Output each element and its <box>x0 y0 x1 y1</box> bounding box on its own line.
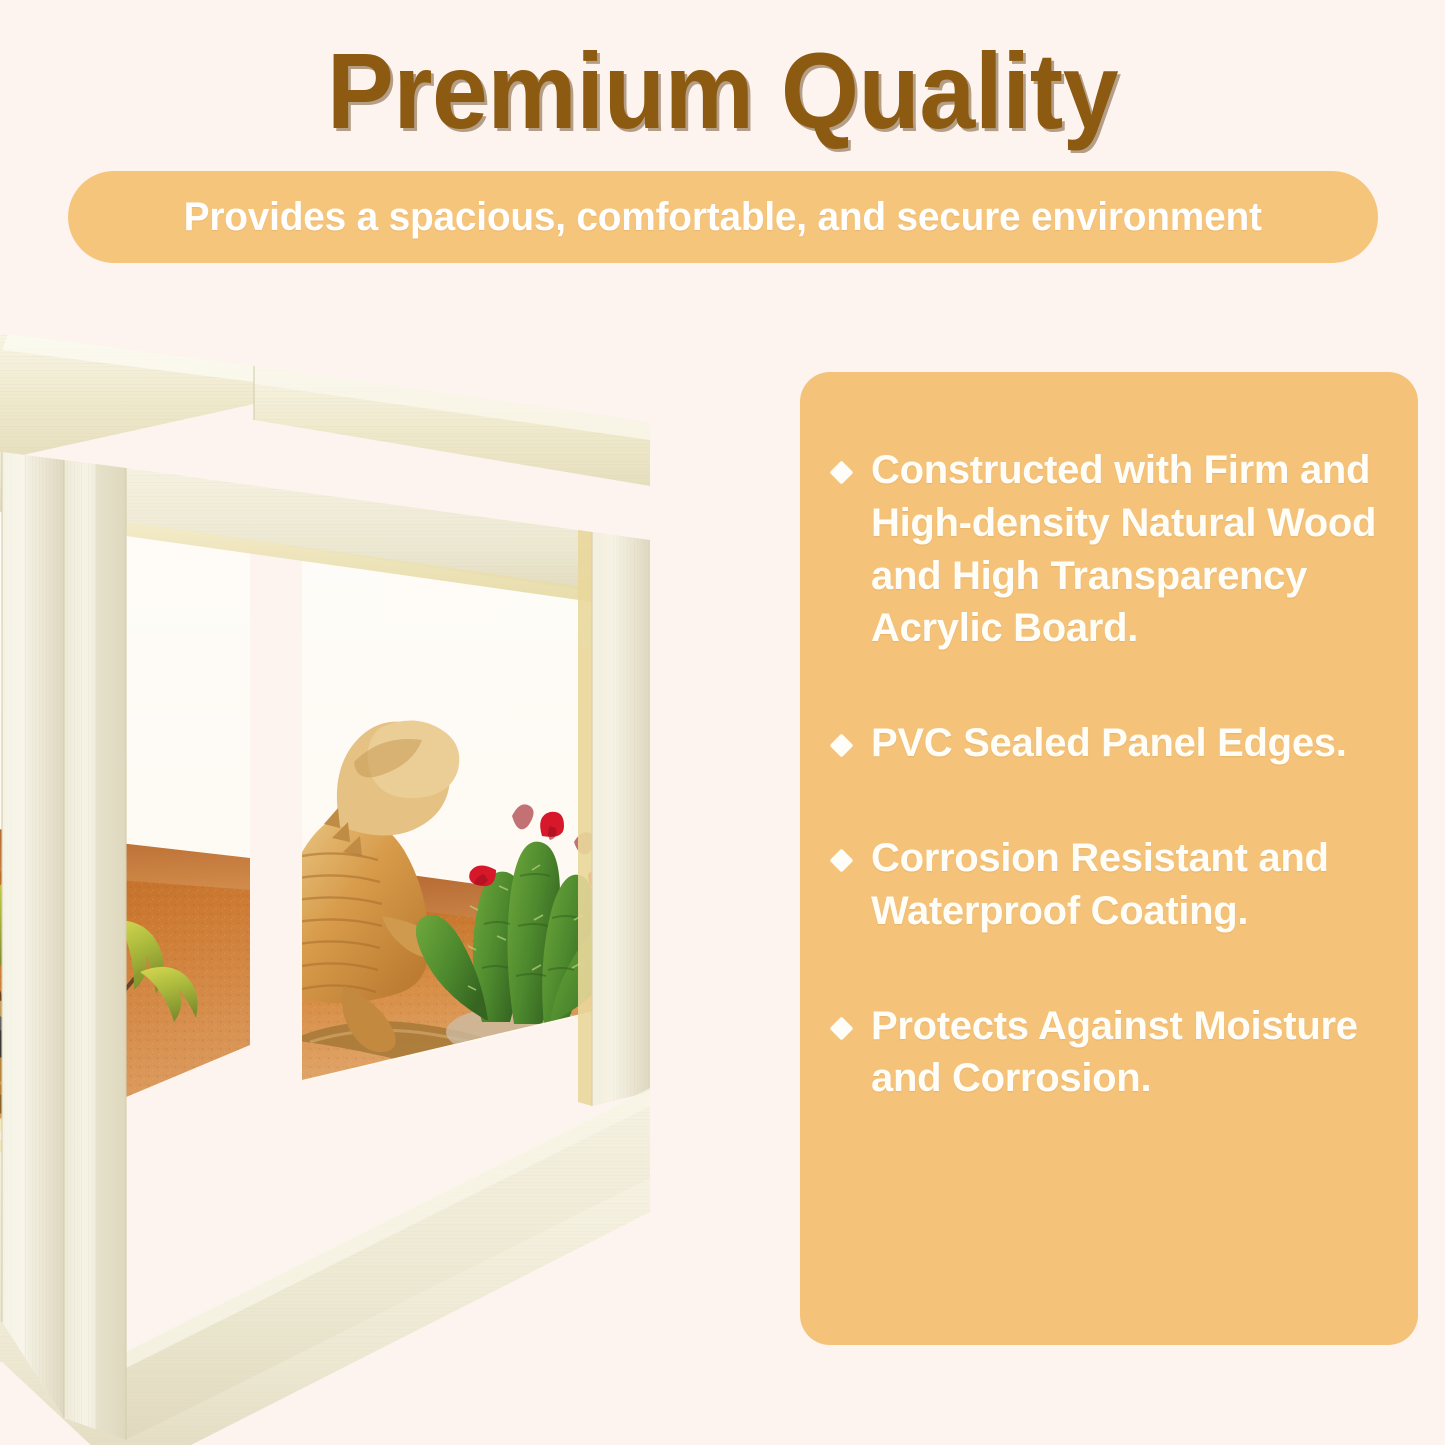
diamond-bullet-icon <box>829 1016 853 1040</box>
feature-text-4: Protects Against Moisture and Corrosion. <box>871 1000 1388 1106</box>
feature-text-3: Corrosion Resistant and Waterproof Coati… <box>871 832 1388 938</box>
product-marketing-image: Premium Quality Provides a spacious, com… <box>0 0 1445 1445</box>
page-title: Premium Quality <box>51 34 1395 147</box>
terrarium-illustration <box>0 300 650 1445</box>
subtitle-text: Provides a spacious, comfortable, and se… <box>184 195 1262 240</box>
subtitle-banner: Provides a spacious, comfortable, and se… <box>68 171 1378 263</box>
feature-item-4: Protects Against Moisture and Corrosion. <box>833 1000 1388 1106</box>
diamond-bullet-icon <box>829 460 853 484</box>
product-photo <box>0 300 650 1445</box>
feature-item-1: Constructed with Firm and High-density N… <box>833 444 1388 655</box>
feature-text-1: Constructed with Firm and High-density N… <box>871 444 1388 655</box>
diamond-bullet-icon <box>829 848 853 872</box>
feature-item-3: Corrosion Resistant and Waterproof Coati… <box>833 832 1388 938</box>
feature-item-2: PVC Sealed Panel Edges. <box>833 717 1388 770</box>
feature-text-2: PVC Sealed Panel Edges. <box>871 717 1347 770</box>
features-panel: Constructed with Firm and High-density N… <box>800 372 1418 1345</box>
diamond-bullet-icon <box>829 734 853 758</box>
